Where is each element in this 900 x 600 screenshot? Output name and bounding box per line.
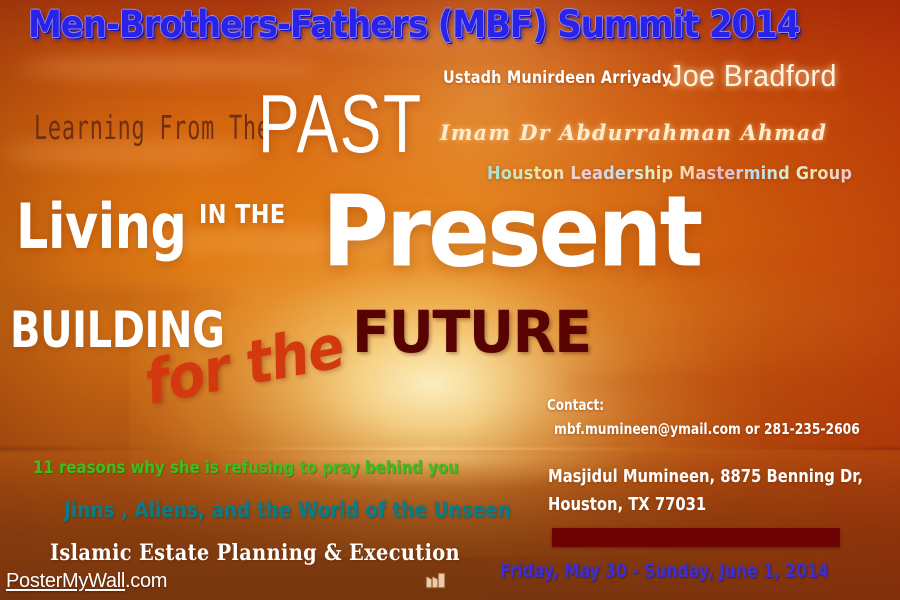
headline-past: PAST <box>258 82 423 165</box>
speaker-name-joe-bradford: Joe Bradford <box>668 60 837 91</box>
headline-present: Present <box>322 183 700 281</box>
topic-item-1: 11 reasons why she is refusing to pray b… <box>33 460 459 477</box>
contact-details[interactable]: mbf.mumineen@ymail.com or 281-235-2606 <box>554 422 860 437</box>
topic-item-2: Jinns , Aliens, and the World of the Uns… <box>64 500 511 521</box>
poster-title: Men-Brothers-Fathers (MBF) Summit 2014 <box>28 6 799 43</box>
contact-label: Contact: <box>547 398 604 413</box>
event-dates: Friday, May 30 - Sunday, June 1, 2014 <box>500 562 829 581</box>
headline-future: FUTURE <box>352 303 591 361</box>
watermark-suffix: .com <box>125 570 167 592</box>
speaker-name-ustadh-munirdeen-arriyady: Ustadh Munirdeen Arriyady <box>443 70 672 87</box>
venue-address-line-1: Masjidul Mumineen, 8875 Benning Dr, <box>548 468 863 486</box>
postermywall-watermark[interactable]: PosterMyWall.com <box>6 571 167 591</box>
watermark-brand: PosterMyWall <box>6 570 125 592</box>
headline-in-the: IN THE <box>199 202 286 228</box>
venue-address-line-2: Houston, TX 77031 <box>548 496 706 514</box>
speaker-name-imam-dr-abdurrahman-ahmad: Imam Dr Abdurrahman Ahmad <box>440 122 827 143</box>
headline-living: Living <box>16 196 187 258</box>
poster-canvas: Men-Brothers-Fathers (MBF) Summit 2014 L… <box>0 0 900 600</box>
poster-text-layer: Men-Brothers-Fathers (MBF) Summit 2014 L… <box>0 0 900 600</box>
building-icon <box>424 569 448 589</box>
headline-learning-from-the: Learning From The <box>34 112 271 145</box>
maroon-divider-bar <box>552 528 840 547</box>
topic-item-3: Islamic Estate Planning & Execution <box>50 542 460 564</box>
